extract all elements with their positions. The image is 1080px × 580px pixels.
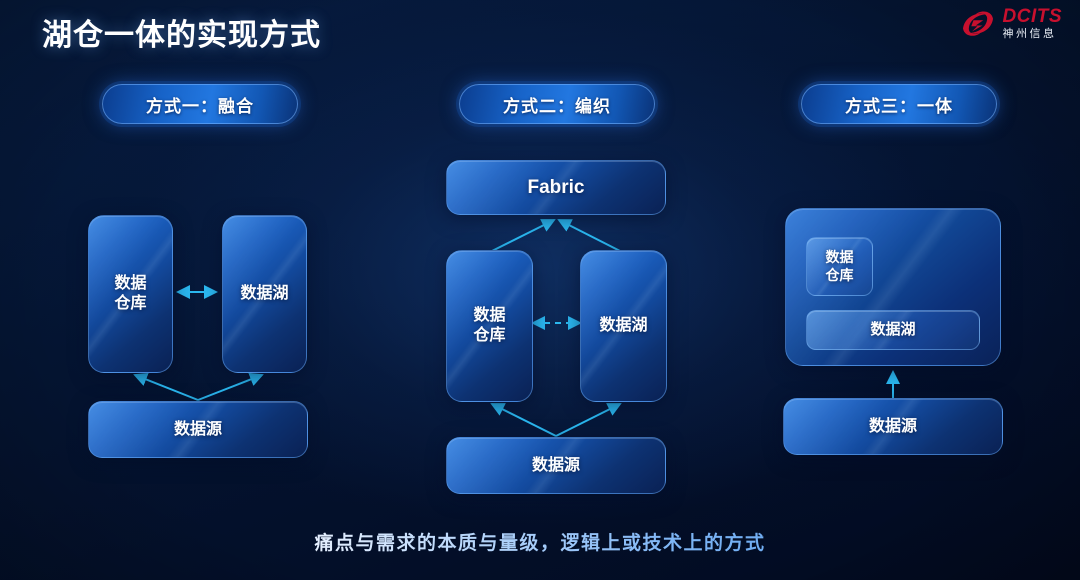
node-label: 数据源 bbox=[532, 456, 580, 476]
node-c1-lake[interactable]: 数据湖 bbox=[222, 215, 307, 373]
node-c3-source[interactable]: 数据源 bbox=[783, 398, 1003, 455]
brand-logo: DCITS 神州信息 bbox=[960, 7, 1063, 40]
logo-text-cn: 神州信息 bbox=[1003, 29, 1063, 40]
slide-caption: 痛点与需求的本质与量级，逻辑上或技术上的方式 bbox=[0, 528, 1080, 555]
node-label: 数据湖 bbox=[599, 316, 647, 336]
node-label: 数据湖 bbox=[870, 321, 915, 339]
node-label: 数据湖 bbox=[240, 284, 288, 304]
node-c3-lake[interactable]: 数据湖 bbox=[806, 310, 980, 350]
logo-text-en: DCITS bbox=[1003, 7, 1063, 26]
node-c2-lake[interactable]: 数据湖 bbox=[580, 250, 667, 402]
node-c1-source[interactable]: 数据源 bbox=[88, 401, 308, 458]
node-c1-warehouse[interactable]: 数据 仓库 bbox=[88, 215, 173, 373]
page-title: 湖仓一体的实现方式 bbox=[42, 10, 321, 54]
method-pill-3[interactable]: 方式三：一体 bbox=[801, 84, 997, 124]
node-label: 数据源 bbox=[174, 420, 222, 440]
method-pill-1[interactable]: 方式一：融合 bbox=[102, 84, 298, 124]
node-label: 数据 仓库 bbox=[473, 306, 505, 345]
method-pill-2[interactable]: 方式二：编织 bbox=[459, 84, 655, 124]
node-label: 数据源 bbox=[869, 417, 917, 437]
node-c2-fabric[interactable]: Fabric bbox=[446, 160, 666, 215]
node-c2-source[interactable]: 数据源 bbox=[446, 437, 666, 494]
node-label: 数据 仓库 bbox=[114, 274, 146, 313]
node-c2-warehouse[interactable]: 数据 仓库 bbox=[446, 250, 533, 402]
dcits-swoosh-icon bbox=[960, 9, 996, 39]
node-c3-warehouse[interactable]: 数据 仓库 bbox=[806, 237, 873, 296]
node-label: Fabric bbox=[527, 176, 584, 199]
node-label: 数据 仓库 bbox=[826, 249, 854, 283]
